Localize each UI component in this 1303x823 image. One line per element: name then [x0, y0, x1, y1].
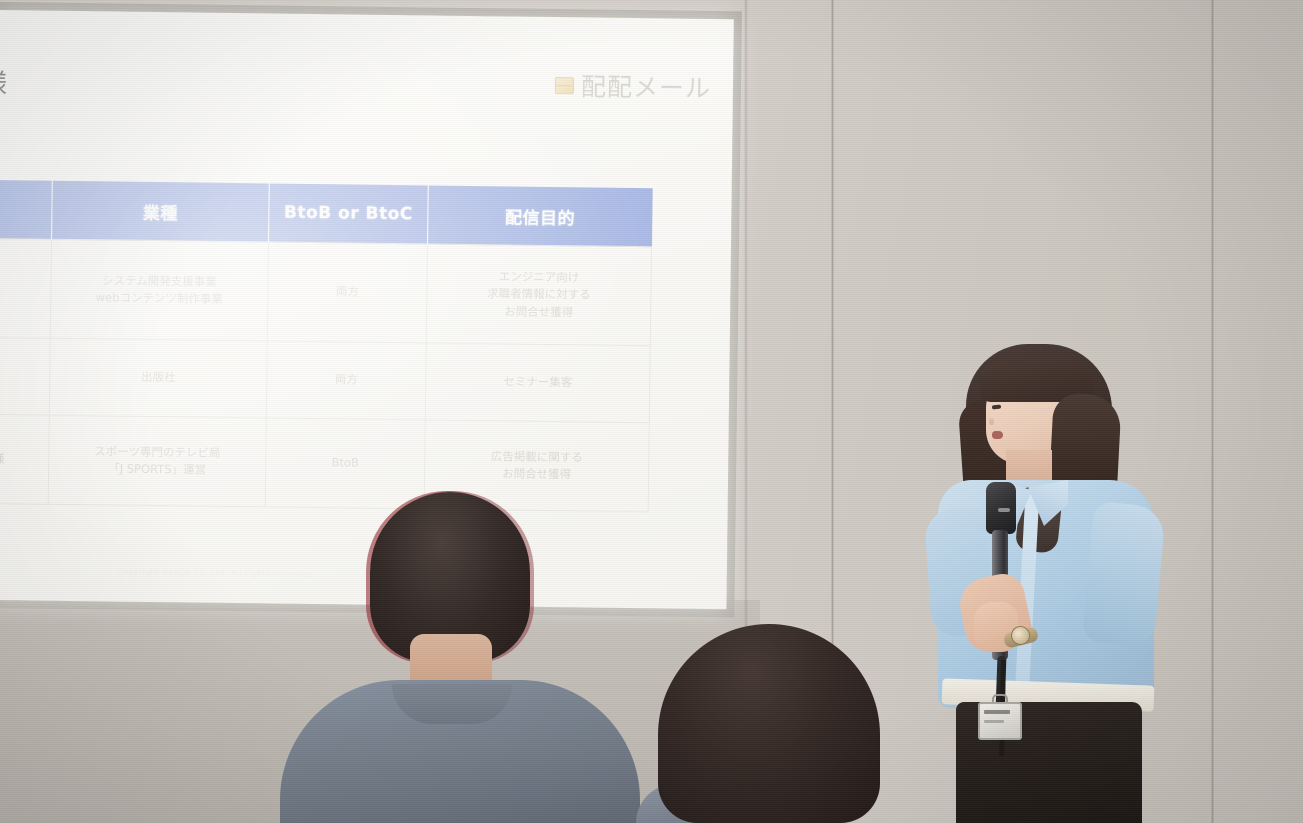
table-cell-btob-btoc: 両方: [267, 242, 427, 343]
table-header-cell-industry: 業種: [52, 181, 270, 242]
slide-header: 業様 配配メール: [0, 36, 734, 91]
table-cell-company: ーツ様: [0, 414, 49, 505]
name-badge-text-line: [984, 720, 1004, 723]
brand-name: 配配メール: [581, 67, 711, 105]
presenter-sleeve-right: [1082, 501, 1166, 647]
table-header-cell-purpose: 配信目的: [427, 185, 652, 246]
table-row: 様 出版社 両方 セミナー集客: [0, 337, 650, 423]
name-badge-text-line: [984, 710, 1010, 714]
table-header-cell-btob-btoc: BtoB or BtoC: [269, 183, 429, 243]
table-cell-purpose: エンジニア向け求職者情報に対するお問合せ獲得: [426, 244, 651, 346]
table-cell-company: 様: [0, 337, 50, 416]
table-cell-btob-btoc: 両方: [266, 341, 426, 420]
table-header-row: 業種 BtoB or BtoC 配信目的: [0, 179, 652, 247]
presenter-nose: [989, 418, 994, 425]
table-row: 様 システム開発支援事業webコンテンツ制作事業 両方 エンジニア向け求職者情報…: [0, 238, 651, 346]
brand-logo: 配配メール: [555, 67, 711, 105]
table-header-cell-company: [0, 179, 52, 239]
table-cell-company: 様: [0, 238, 52, 339]
wall-panel-seam: [1211, 0, 1214, 823]
photo-scene: 業様 配配メール 業種 BtoB or BtoC 配信目的: [0, 0, 1303, 823]
table-cell-industry: スポーツ専門のテレビ局「J SPORTS」運営: [48, 415, 266, 507]
presenter: [900, 330, 1190, 823]
table-cell-industry: システム開発支援事業webコンテンツ制作事業: [50, 239, 268, 341]
presenter-mouth: [992, 431, 1003, 439]
envelope-icon: [555, 77, 574, 94]
audience-hair: [658, 624, 880, 823]
audience-member-front-right: [636, 624, 906, 823]
case-study-table: 業種 BtoB or BtoC 配信目的 様 システム開発支援事業webコンテン…: [0, 179, 653, 512]
page-title: 業様: [0, 61, 11, 101]
table-cell-purpose: セミナー集客: [425, 343, 650, 423]
table-cell-industry: 出版社: [49, 338, 267, 418]
microphone-button: [998, 508, 1010, 512]
audience-member-front-left: [262, 492, 662, 823]
